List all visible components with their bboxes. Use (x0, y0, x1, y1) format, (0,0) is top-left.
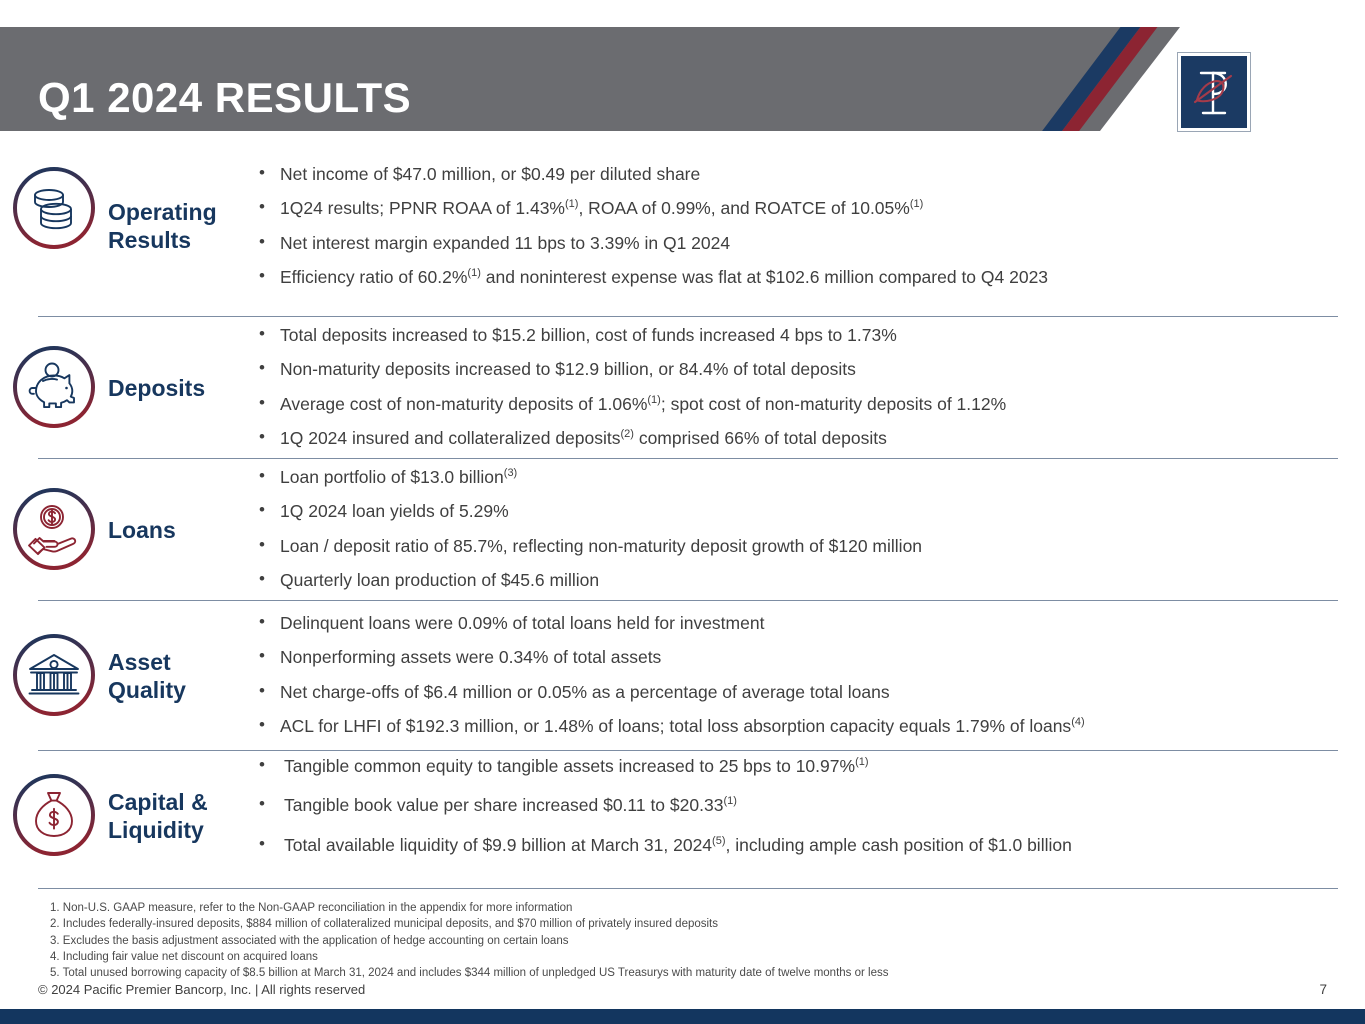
section-bullets-asset-quality: Delinquent loans were 0.09% of total loa… (250, 613, 1365, 737)
bullet-text-cont: , including ample cash position of $1.0 … (726, 835, 1072, 855)
bullet-text-cont: , ROAA of 0.99%, and ROATCE of 10.05% (578, 198, 909, 218)
footnote-item: 1. Non-U.S. GAAP measure, refer to the N… (50, 900, 1340, 916)
bullet-item: 1Q 2024 loan yields of 5.29% (256, 501, 1341, 522)
bullet-text: Efficiency ratio of 60.2% (280, 267, 467, 287)
bullet-text: 1Q24 results; PPNR ROAA of 1.43% (280, 198, 565, 218)
section-icon-wrap (0, 771, 108, 859)
stacked-coins-icon (10, 164, 98, 252)
section-icon-wrap (0, 631, 108, 719)
footnote-item: 4. Including fair value net discount on … (50, 949, 1340, 965)
footnote-item: 3. Excludes the basis adjustment associa… (50, 933, 1340, 949)
footnote-ref: (1) (910, 199, 923, 211)
section-label-operating-results: Operating Results (108, 164, 250, 254)
footnote-item: 5. Total unused borrowing capacity of $8… (50, 965, 1340, 981)
section-bullets-capital-liquidity: Tangible common equity to tangible asset… (250, 756, 1365, 874)
piggy-bank-icon (10, 343, 98, 431)
section-icon-wrap (0, 485, 108, 573)
hand-holding-dollar-icon (10, 485, 98, 573)
section-deposits: Deposits Total deposits increased to $15… (0, 316, 1365, 458)
copyright-notice: © 2024 Pacific Premier Bancorp, Inc. | A… (38, 982, 365, 997)
section-icon-wrap (0, 164, 108, 252)
footnotes-list: 1. Non-U.S. GAAP measure, refer to the N… (50, 900, 1340, 982)
bullet-item: Loan portfolio of $13.0 billion(3) (256, 467, 1341, 488)
bullet-text: ACL for LHFI of $192.3 million, or 1.48%… (280, 716, 1071, 736)
bank-building-icon (10, 631, 98, 719)
section-bullets-operating-results: Net income of $47.0 million, or $0.49 pe… (250, 164, 1365, 288)
section-label-loans: Loans (108, 514, 250, 544)
bullet-item: Average cost of non-maturity deposits of… (256, 394, 1341, 415)
bullet-text: Net charge-offs of $6.4 million or 0.05%… (280, 682, 890, 702)
bullet-text: 1Q 2024 loan yields of 5.29% (280, 501, 509, 521)
bullet-item: 1Q 2024 insured and collateralized depos… (256, 428, 1341, 449)
section-divider (38, 600, 1338, 601)
bullet-item: Net income of $47.0 million, or $0.49 pe… (256, 164, 1341, 185)
section-label-asset-quality: Asset Quality (108, 646, 250, 704)
section-bullets-loans: Loan portfolio of $13.0 billion(3) 1Q 20… (250, 467, 1365, 591)
section-asset-quality: Asset Quality Delinquent loans were 0.09… (0, 600, 1365, 750)
bullet-text: Average cost of non-maturity deposits of… (280, 394, 647, 414)
bullet-text-cont: and noninterest expense was flat at $102… (481, 267, 1048, 287)
page-title: Q1 2024 RESULTS (38, 77, 411, 119)
bullet-text: Loan portfolio of $13.0 billion (280, 467, 504, 487)
bullet-text-cont: ; spot cost of non-maturity deposits of … (661, 394, 1006, 414)
bullet-text: Quarterly loan production of $45.6 milli… (280, 570, 599, 590)
bullet-item: Delinquent loans were 0.09% of total loa… (256, 613, 1341, 634)
bullet-text: Tangible common equity to tangible asset… (284, 756, 855, 776)
sections-container: Operating Results Net income of $47.0 mi… (0, 158, 1365, 880)
section-divider (38, 316, 1338, 317)
section-operating-results: Operating Results Net income of $47.0 mi… (0, 158, 1365, 316)
section-divider (38, 750, 1338, 751)
slide-header-band: Q1 2024 RESULTS (0, 27, 1365, 131)
bullet-item: Tangible book value per share increased … (256, 795, 1341, 816)
bullet-item: Net interest margin expanded 11 bps to 3… (256, 233, 1341, 254)
section-loans: Loans Loan portfolio of $13.0 billion(3)… (0, 458, 1365, 600)
bullet-text: Non-maturity deposits increased to $12.9… (280, 359, 856, 379)
section-divider (38, 458, 1338, 459)
footnote-ref: (1) (565, 199, 578, 211)
bullet-item: Efficiency ratio of 60.2%(1) and noninte… (256, 267, 1341, 288)
bullet-item: Non-maturity deposits increased to $12.9… (256, 359, 1341, 380)
bullet-text-cont: comprised 66% of total deposits (634, 428, 887, 448)
section-label-deposits: Deposits (108, 372, 250, 402)
bullet-item: ACL for LHFI of $192.3 million, or 1.48%… (256, 716, 1341, 737)
bullet-item: Net charge-offs of $6.4 million or 0.05%… (256, 682, 1341, 703)
bullet-text: Loan / deposit ratio of 85.7%, reflectin… (280, 536, 922, 556)
footer-bottom-bar (0, 1009, 1365, 1024)
footnote-ref: (2) (621, 428, 634, 440)
bullet-item: Loan / deposit ratio of 85.7%, reflectin… (256, 536, 1341, 557)
bullet-item: Quarterly loan production of $45.6 milli… (256, 570, 1341, 591)
bullet-item: 1Q24 results; PPNR ROAA of 1.43%(1), ROA… (256, 198, 1341, 219)
bullet-text: Net interest margin expanded 11 bps to 3… (280, 233, 730, 253)
page-number: 7 (1319, 982, 1327, 997)
pacific-premier-logo (1178, 53, 1250, 131)
bullet-text: Total available liquidity of $9.9 billio… (284, 835, 712, 855)
bullet-item: Total available liquidity of $9.9 billio… (256, 835, 1341, 856)
section-label-capital-liquidity: Capital & Liquidity (108, 786, 250, 844)
footnote-item: 2. Includes federally-insured deposits, … (50, 916, 1340, 932)
bullet-text: 1Q 2024 insured and collateralized depos… (280, 428, 621, 448)
footnote-ref: (4) (1071, 716, 1084, 728)
money-bag-icon (10, 771, 98, 859)
footnotes-divider (38, 888, 1338, 889)
bullet-text: Net income of $47.0 million, or $0.49 pe… (280, 164, 700, 184)
section-capital-liquidity: Capital & Liquidity Tangible common equi… (0, 750, 1365, 880)
bullet-item: Nonperforming assets were 0.34% of total… (256, 647, 1341, 668)
bullet-item: Tangible common equity to tangible asset… (256, 756, 1341, 777)
footnote-ref: (1) (723, 796, 736, 808)
footnote-ref: (1) (855, 756, 868, 768)
bullet-text: Delinquent loans were 0.09% of total loa… (280, 613, 764, 633)
footnote-ref: (5) (712, 835, 725, 847)
footnote-ref: (1) (647, 394, 660, 406)
bullet-text: Tangible book value per share increased … (284, 795, 723, 815)
section-icon-wrap (0, 343, 108, 431)
footnote-ref: (3) (504, 467, 517, 479)
section-bullets-deposits: Total deposits increased to $15.2 billio… (250, 325, 1365, 449)
bullet-text: Total deposits increased to $15.2 billio… (280, 325, 897, 345)
bullet-text: Nonperforming assets were 0.34% of total… (280, 647, 661, 667)
footnote-ref: (1) (467, 267, 480, 279)
bullet-item: Total deposits increased to $15.2 billio… (256, 325, 1341, 346)
